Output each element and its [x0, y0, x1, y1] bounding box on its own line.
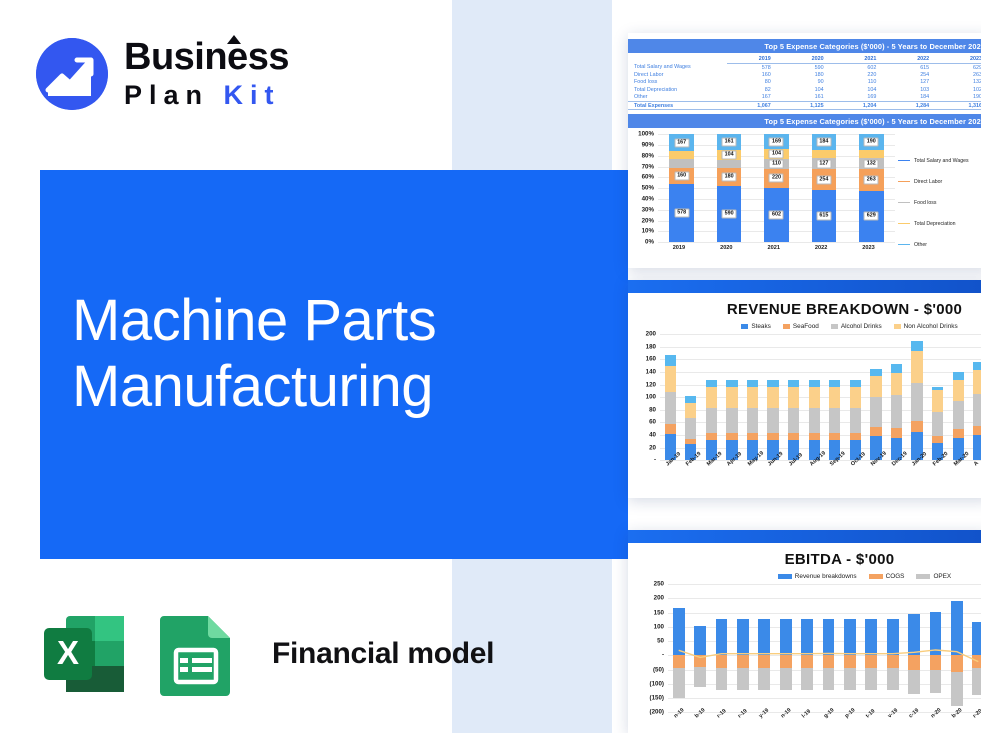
table-cell: 90 — [780, 79, 833, 86]
bar-segment — [891, 364, 902, 373]
bar-data-label: 190 — [864, 138, 879, 147]
y-axis-tick: 40% — [642, 196, 654, 203]
y-axis-tick: 200 — [646, 331, 656, 338]
chart-bar: Jun-19 — [767, 334, 778, 460]
legend-swatch — [778, 574, 792, 579]
legend-item: Food loss — [898, 200, 937, 206]
y-axis-tick: 40 — [649, 431, 656, 438]
ebitda-chart: 25020015010050-(50)(100)(150)(200)n-19b-… — [628, 580, 981, 730]
bar-data-label: 169 — [769, 137, 784, 146]
table-col-header: 2021 — [833, 55, 886, 64]
bar-segment — [870, 427, 881, 436]
table-row: Direct Labor160180220254263 — [628, 71, 981, 78]
chart-bar: Apr-19 — [726, 334, 737, 460]
expense-sheet: Top 5 Expense Categories ($'000) - 5 Yea… — [628, 33, 981, 268]
bar-segment — [932, 387, 943, 391]
legend-item: Revenue breakdowns — [778, 573, 857, 580]
y-axis-tick: 80 — [649, 406, 656, 413]
table-cell: 1,204 — [833, 101, 886, 109]
bar-segment — [850, 380, 861, 387]
bar-segment — [812, 150, 837, 159]
legend-item: OPEX — [916, 573, 951, 580]
y-axis-tick: 100% — [638, 131, 654, 138]
bar-segment — [829, 387, 840, 408]
table-cell: 161 — [780, 94, 833, 102]
legend-label: OPEX — [933, 573, 951, 580]
table-cell: 615 — [885, 64, 938, 72]
y-axis-tick: 140 — [646, 368, 656, 375]
chart-bar: Feb-19 — [685, 334, 696, 460]
bar-segment: 110 — [764, 159, 789, 169]
bar-data-label: 629 — [864, 212, 879, 221]
bar-segment — [809, 380, 820, 387]
bar-data-label: 127 — [816, 159, 831, 168]
format-footer: X Financial model — [40, 608, 494, 700]
bar-segment: 169 — [764, 134, 789, 149]
legend-swatch — [898, 223, 910, 224]
table-row-label: Total Salary and Wages — [628, 64, 727, 72]
preview-panel-revenue[interactable]: REVENUE BREAKDOWN - $'000 SteaksSeaFoodA… — [628, 280, 981, 498]
bar-segment: 127 — [812, 158, 837, 169]
y-axis-tick: (100) — [650, 680, 664, 687]
chart-bar: Mar-19 — [706, 334, 717, 460]
bar-segment — [953, 380, 964, 401]
ebitda-line-series — [668, 584, 981, 712]
y-axis-tick: 180 — [646, 343, 656, 350]
chart-bar: Jul-19 — [788, 334, 799, 460]
table-cell: 180 — [780, 71, 833, 78]
legend-label: Alcohol Drinks — [841, 323, 882, 330]
table-cell: 629 — [938, 64, 981, 72]
bar-data-label: 180 — [722, 172, 737, 181]
bar-segment — [788, 433, 799, 440]
bar-data-label: 254 — [816, 175, 831, 184]
legend-item: Total Salary and Wages — [898, 158, 969, 164]
bar-segment — [870, 397, 881, 427]
bar-segment: 578 — [669, 184, 694, 243]
revenue-sheet: REVENUE BREAKDOWN - $'000 SteaksSeaFoodA… — [628, 301, 981, 498]
preview-panel-ebitda[interactable]: EBITDA - $'000 Revenue breakdownsCOGSOPE… — [628, 530, 981, 733]
y-axis-tick: 60 — [649, 419, 656, 426]
bar-segment: 184 — [812, 134, 837, 149]
page-title-line1: Machine Parts — [72, 288, 612, 354]
chart-bar: May-19 — [747, 334, 758, 460]
y-axis-tick: - — [662, 652, 664, 659]
bar-segment: 629 — [859, 191, 884, 243]
table-cell: 254 — [885, 71, 938, 78]
y-axis-tick: 80% — [642, 152, 654, 159]
brand-name-line1: Business — [124, 36, 289, 78]
bar-segment — [706, 408, 717, 433]
table-cell: 103 — [885, 86, 938, 93]
revenue-chart: 20018016014012010080604020-Jan-19Feb-19M… — [628, 330, 981, 480]
panel-ribbon-bar-2 — [628, 530, 981, 543]
chart-bar: Dec-19 — [891, 334, 902, 460]
chart-bar: Oct-19 — [850, 334, 861, 460]
legend-swatch — [898, 244, 910, 245]
legend-item: Total Depreciation — [898, 221, 956, 227]
bar-segment: 220 — [764, 169, 789, 189]
page-title-line2: Manufacturing — [72, 354, 612, 420]
table-cell: 184 — [885, 94, 938, 102]
chart-bar: Feb-20 — [932, 334, 943, 460]
legend-item: Direct Labor — [898, 179, 942, 185]
y-axis-tick: 70% — [642, 163, 654, 170]
legend-label: Revenue breakdowns — [795, 573, 857, 580]
table-cell: 1,316 — [938, 101, 981, 109]
chart-bar: 6022201101041692021 — [764, 134, 789, 242]
chart-bar: 6292631321902023 — [859, 134, 884, 242]
brand-name-line2: Plan Kit — [124, 79, 289, 111]
bar-segment — [850, 408, 861, 433]
table-row-label: Direct Labor — [628, 71, 727, 78]
bar-segment — [891, 395, 902, 428]
bar-segment — [911, 383, 922, 421]
bar-data-label: 161 — [722, 137, 737, 146]
bar-segment: 160 — [669, 168, 694, 184]
brand-logo: Business Plan Kit — [36, 30, 336, 118]
bar-segment — [973, 394, 981, 426]
y-axis-tick: 20% — [642, 217, 654, 224]
brand-accent-mark — [227, 35, 241, 44]
legend-swatch — [783, 324, 790, 329]
table-cell: 220 — [833, 71, 886, 78]
bar-data-label: 104 — [722, 150, 737, 159]
bar-segment — [669, 159, 694, 167]
chart-bar: A — [973, 334, 981, 460]
bar-segment — [932, 412, 943, 436]
bar-segment — [809, 408, 820, 433]
bar-segment — [767, 433, 778, 440]
bar-segment — [726, 380, 737, 387]
bar-segment — [850, 433, 861, 440]
y-axis-tick: 20 — [649, 444, 656, 451]
y-axis-tick: 50 — [657, 638, 664, 645]
legend-swatch — [898, 181, 910, 182]
growth-arrow-icon — [36, 38, 108, 110]
bar-segment: 254 — [812, 169, 837, 190]
bar-data-label: 590 — [722, 209, 737, 218]
table-cell: 190 — [938, 94, 981, 102]
table-cell: 80 — [727, 79, 780, 86]
bar-segment — [665, 355, 676, 366]
bar-segment: 161 — [717, 134, 742, 149]
bar-segment — [669, 151, 694, 159]
table-cell: 590 — [780, 64, 833, 72]
legend-label: Food loss — [914, 200, 937, 206]
chart-bar: Sep-19 — [829, 334, 840, 460]
x-axis-tick: 2023 — [862, 245, 874, 251]
bar-segment — [932, 390, 943, 412]
legend-item: Alcohol Drinks — [831, 323, 882, 330]
legend-item: COGS — [869, 573, 905, 580]
google-sheets-icon — [152, 608, 242, 700]
bar-segment — [809, 433, 820, 440]
table-row-label: Total Depreciation — [628, 86, 727, 93]
y-axis-tick: 0% — [645, 239, 654, 246]
brand-plan-text: Plan — [124, 80, 209, 110]
bar-segment — [859, 150, 884, 158]
legend-swatch — [898, 202, 910, 203]
table-cell: 127 — [885, 79, 938, 86]
panel-ribbon-bar — [628, 280, 981, 293]
legend-item: Non Alcohol Drinks — [894, 323, 958, 330]
bar-data-label: 160 — [674, 171, 689, 180]
bar-segment — [891, 373, 902, 395]
legend-label: Steaks — [751, 323, 771, 330]
legend-label: COGS — [886, 573, 905, 580]
y-axis-tick: 120 — [646, 381, 656, 388]
expense-chart-title: Top 5 Expense Categories ($'000) - 5 Yea… — [628, 114, 981, 128]
legend-label: Total Depreciation — [914, 221, 956, 227]
bar-segment — [973, 370, 981, 394]
bar-data-label: 263 — [864, 175, 879, 184]
bar-segment — [870, 369, 881, 376]
legend-label: Other — [914, 242, 927, 248]
legend-item: Steaks — [741, 323, 771, 330]
table-cell: 169 — [833, 94, 886, 102]
bar-segment — [665, 424, 676, 433]
bar-segment — [747, 433, 758, 440]
x-axis-tick: A — [973, 460, 980, 467]
legend-label: Direct Labor — [914, 179, 942, 185]
bar-segment — [706, 433, 717, 440]
bar-segment — [747, 408, 758, 433]
legend-label: Non Alcohol Drinks — [904, 323, 958, 330]
bar-data-label: 104 — [769, 150, 784, 159]
poster-canvas: Business Plan Kit Machine Parts Manufact… — [0, 0, 981, 733]
bar-segment: 590 — [717, 186, 742, 243]
preview-panel-expenses[interactable]: Top 5 Expense Categories ($'000) - 5 Yea… — [628, 33, 981, 268]
legend-item: Other — [898, 242, 927, 248]
table-cell: 578 — [727, 64, 780, 72]
table-cell: 132 — [938, 79, 981, 86]
legend-swatch — [741, 324, 748, 329]
y-axis-tick: 100 — [646, 394, 656, 401]
svg-text:X: X — [57, 634, 79, 671]
table-cell: 1,284 — [885, 101, 938, 109]
y-axis-tick: (50) — [653, 666, 664, 673]
bar-segment — [767, 380, 778, 387]
table-row-label: Other — [628, 94, 727, 102]
legend-swatch — [869, 574, 883, 579]
table-cell: 160 — [727, 71, 780, 78]
bar-segment: 167 — [669, 134, 694, 151]
table-col-header: 2022 — [885, 55, 938, 64]
bar-segment — [911, 421, 922, 432]
table-row-label: Total Expenses — [628, 101, 727, 109]
table-cell: 602 — [833, 64, 886, 72]
table-col-header: 2019 — [727, 55, 780, 64]
y-axis-tick: (150) — [650, 694, 664, 701]
bar-segment: 190 — [859, 134, 884, 150]
chart-bar: Nov-19 — [870, 334, 881, 460]
table-row: Other167161169184190 — [628, 94, 981, 102]
table-cell: 167 — [727, 94, 780, 102]
bar-data-label: 132 — [864, 159, 879, 168]
bar-segment — [706, 380, 717, 387]
x-axis-tick: 2019 — [673, 245, 685, 251]
bar-segment: 180 — [717, 168, 742, 185]
y-axis-tick: 160 — [646, 356, 656, 363]
expense-stacked-chart: 100%90%80%70%60%50%40%30%20%10%0%5781601… — [628, 128, 981, 261]
brand-business-text: Business — [124, 36, 289, 78]
bar-segment — [685, 439, 696, 444]
legend-swatch — [831, 324, 838, 329]
y-axis-tick: 200 — [654, 595, 664, 602]
table-col-header: 2023 — [938, 55, 981, 64]
bar-segment — [767, 387, 778, 408]
microsoft-excel-icon: X — [40, 608, 130, 700]
table-col-header: 2020 — [780, 55, 833, 64]
revenue-chart-legend: SteaksSeaFoodAlcohol DrinksNon Alcohol D… — [708, 323, 981, 330]
ebitda-chart-legend: Revenue breakdownsCOGSOPEX — [738, 573, 981, 580]
bar-segment — [809, 387, 820, 408]
bar-data-label: 110 — [769, 159, 784, 168]
chart-bar: Jan-19 — [665, 334, 676, 460]
x-axis-tick: 2022 — [815, 245, 827, 251]
ebitda-sheet: EBITDA - $'000 Revenue breakdownsCOGSOPE… — [628, 551, 981, 733]
table-cell: 263 — [938, 71, 981, 78]
bar-segment: 615 — [812, 190, 837, 242]
expense-table-title: Top 5 Expense Categories ($'000) - 5 Yea… — [628, 39, 981, 53]
revenue-chart-title: REVENUE BREAKDOWN - $'000 — [698, 301, 981, 318]
y-axis-tick: 150 — [654, 609, 664, 616]
legend-swatch — [898, 160, 910, 161]
table-row: Total Depreciation82104104103102 — [628, 86, 981, 93]
bar-segment — [891, 428, 902, 438]
y-axis-tick: 60% — [642, 174, 654, 181]
bar-segment — [726, 387, 737, 408]
y-axis-tick: 90% — [642, 142, 654, 149]
expense-table: 20192020202120222023 Total Salary and Wa… — [628, 55, 981, 110]
bar-segment — [788, 380, 799, 387]
chart-bar: Mar-20 — [953, 334, 964, 460]
gridline — [658, 242, 895, 243]
legend-swatch — [916, 574, 930, 579]
table-cell: 104 — [833, 86, 886, 93]
bar-data-label: 220 — [769, 174, 784, 183]
bar-segment — [870, 376, 881, 397]
bar-segment — [726, 408, 737, 433]
bar-segment — [665, 392, 676, 424]
bar-segment — [767, 408, 778, 433]
page-title: Machine Parts Manufacturing — [72, 288, 612, 420]
x-axis-tick: 2020 — [720, 245, 732, 251]
bar-segment: 132 — [859, 158, 884, 169]
bar-segment — [747, 387, 758, 408]
table-cell: 1,067 — [727, 101, 780, 109]
chart-bar: Aug-19 — [809, 334, 820, 460]
bar-segment — [685, 396, 696, 403]
table-cell: 1,125 — [780, 101, 833, 109]
bar-data-label: 615 — [816, 212, 831, 221]
legend-label: Total Salary and Wages — [914, 158, 969, 164]
bar-segment — [665, 366, 676, 392]
bar-segment — [685, 418, 696, 439]
bar-data-label: 578 — [674, 209, 689, 218]
y-axis-tick: (200) — [650, 709, 664, 716]
table-col-header — [628, 55, 727, 64]
table-row: Food loss8090110127132 — [628, 79, 981, 86]
bar-segment — [911, 341, 922, 351]
ebitda-chart-title: EBITDA - $'000 — [688, 551, 981, 568]
bar-segment — [973, 435, 981, 460]
bar-segment: 602 — [764, 188, 789, 242]
bar-segment — [829, 433, 840, 440]
legend-label: SeaFood — [793, 323, 819, 330]
y-axis-tick: 10% — [642, 228, 654, 235]
y-axis-tick: 50% — [642, 185, 654, 192]
table-cell: 104 — [780, 86, 833, 93]
table-total-row: Total Expenses1,0671,1251,2041,2841,316 — [628, 101, 981, 109]
bar-segment — [829, 380, 840, 387]
legend-item: SeaFood — [783, 323, 819, 330]
chart-bar: Jan-20 — [911, 334, 922, 460]
bar-segment — [685, 403, 696, 418]
bar-segment — [829, 408, 840, 433]
bar-data-label: 184 — [816, 138, 831, 147]
table-header-row: 20192020202120222023 — [628, 55, 981, 64]
bar-segment — [706, 387, 717, 408]
table-row: Total Salary and Wages578590602615629 — [628, 64, 981, 72]
legend-swatch — [894, 324, 901, 329]
bar-data-label: 167 — [674, 138, 689, 147]
table-row-label: Food loss — [628, 79, 727, 86]
bar-segment — [973, 426, 981, 435]
bar-segment — [973, 362, 981, 370]
format-label: Financial model — [272, 637, 494, 671]
bar-segment — [788, 408, 799, 433]
bar-segment — [717, 160, 742, 169]
y-axis-tick: - — [654, 457, 656, 464]
table-cell: 110 — [833, 79, 886, 86]
bar-segment — [911, 351, 922, 384]
bar-segment: 104 — [764, 149, 789, 158]
y-axis-tick: 100 — [654, 623, 664, 630]
bar-segment — [726, 433, 737, 440]
bar-segment — [953, 372, 964, 380]
y-axis-tick: 30% — [642, 206, 654, 213]
x-axis-tick: 2021 — [767, 245, 779, 251]
chart-bar: 6152541271842022 — [812, 134, 837, 242]
bar-segment — [932, 436, 943, 442]
brand-kit-text: Kit — [224, 80, 281, 110]
bar-segment: 104 — [717, 150, 742, 160]
table-cell: 102 — [938, 86, 981, 93]
chart-bar: 5901801041612020 — [717, 134, 742, 242]
chart-bar: 5781601672019 — [669, 134, 694, 242]
table-cell: 82 — [727, 86, 780, 93]
bar-segment — [953, 401, 964, 429]
bar-segment — [850, 387, 861, 408]
y-axis-tick: 250 — [654, 581, 664, 588]
bar-segment: 263 — [859, 169, 884, 191]
bar-data-label: 602 — [769, 211, 784, 220]
bar-segment — [788, 387, 799, 408]
bar-segment — [747, 380, 758, 387]
bar-segment — [953, 429, 964, 438]
